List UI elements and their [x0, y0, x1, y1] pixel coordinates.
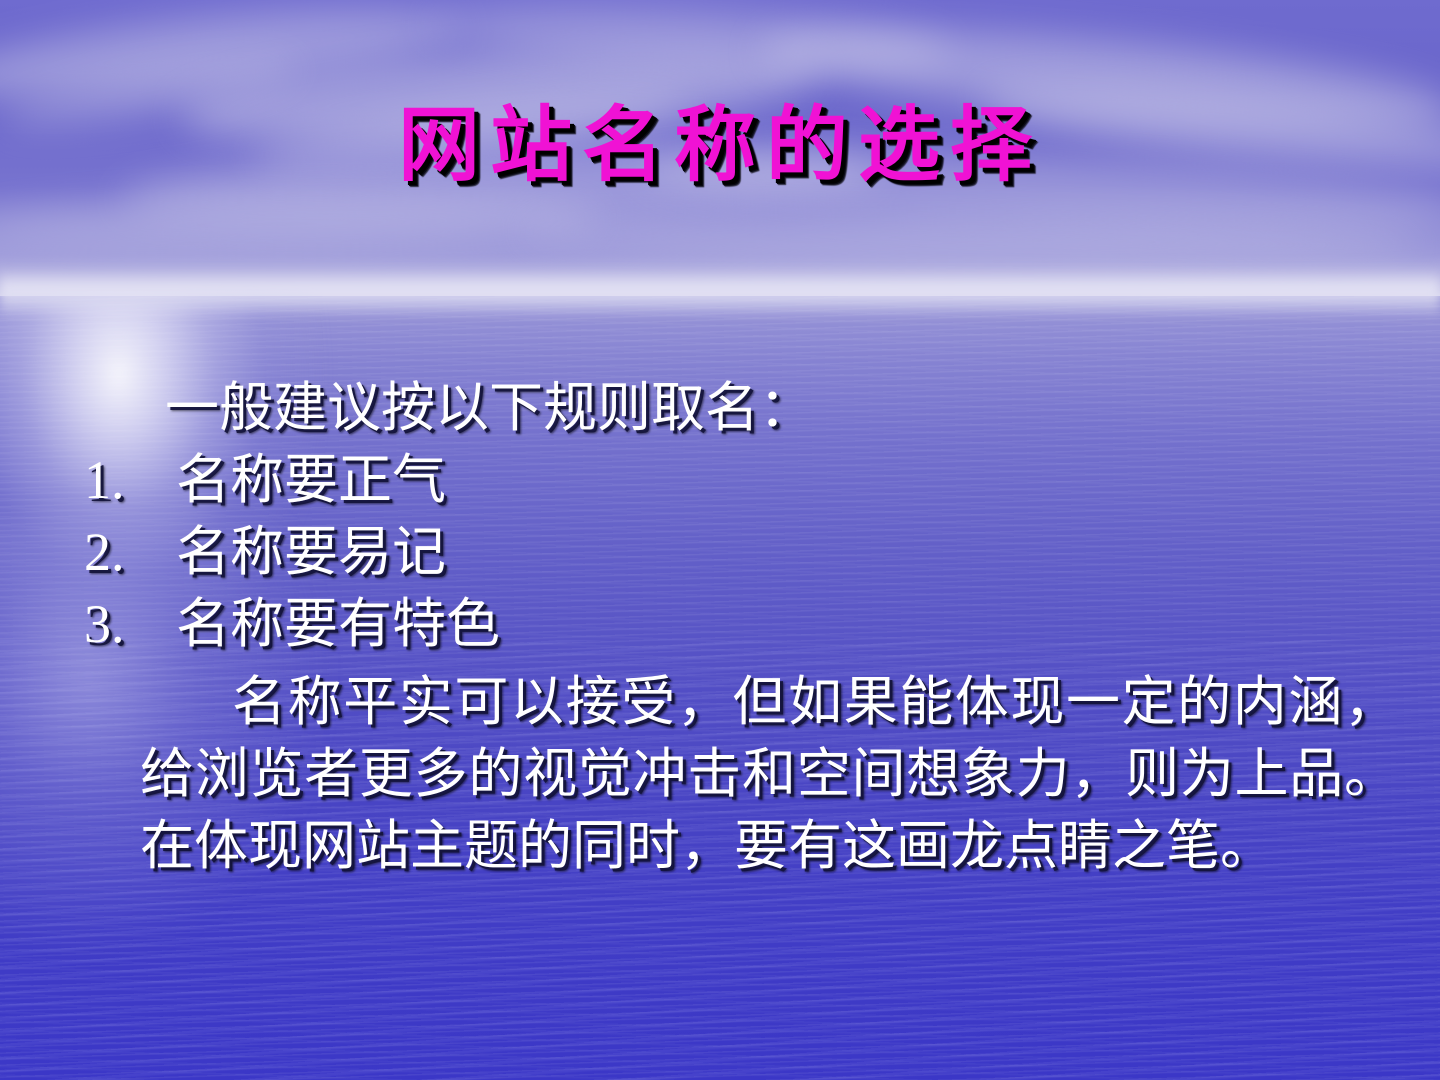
list-item-number: 1.: [84, 444, 176, 516]
list-item-number: 2.: [84, 516, 176, 588]
list-item-label: 名称要正气: [176, 448, 446, 511]
numbered-list: 1.名称要正气 2.名称要易记 3.名称要有特色: [0, 444, 1440, 660]
slide-title: 网站名称的选择: [0, 104, 1440, 186]
horizon-haze-band: [0, 268, 1440, 318]
list-item-number: 3.: [84, 588, 176, 660]
presentation-slide: 网站名称的选择 一般建议按以下规则取名： 1.名称要正气 2.名称要易记 3.名…: [0, 0, 1440, 1080]
cloud-streak-icon: [0, 190, 600, 257]
list-item: 2.名称要易记: [0, 516, 1440, 588]
list-item: 1.名称要正气: [0, 444, 1440, 516]
body-paragraph: 名称平实可以接受，但如果能体现一定的内涵，给浏览者更多的视觉冲击和空间想象力，则…: [0, 666, 1440, 882]
intro-line: 一般建议按以下规则取名：: [0, 372, 1440, 444]
list-item-label: 名称要有特色: [176, 592, 500, 655]
list-item-label: 名称要易记: [176, 520, 446, 583]
slide-body: 一般建议按以下规则取名： 1.名称要正气 2.名称要易记 3.名称要有特色 名称…: [0, 372, 1440, 882]
list-item: 3.名称要有特色: [0, 588, 1440, 660]
